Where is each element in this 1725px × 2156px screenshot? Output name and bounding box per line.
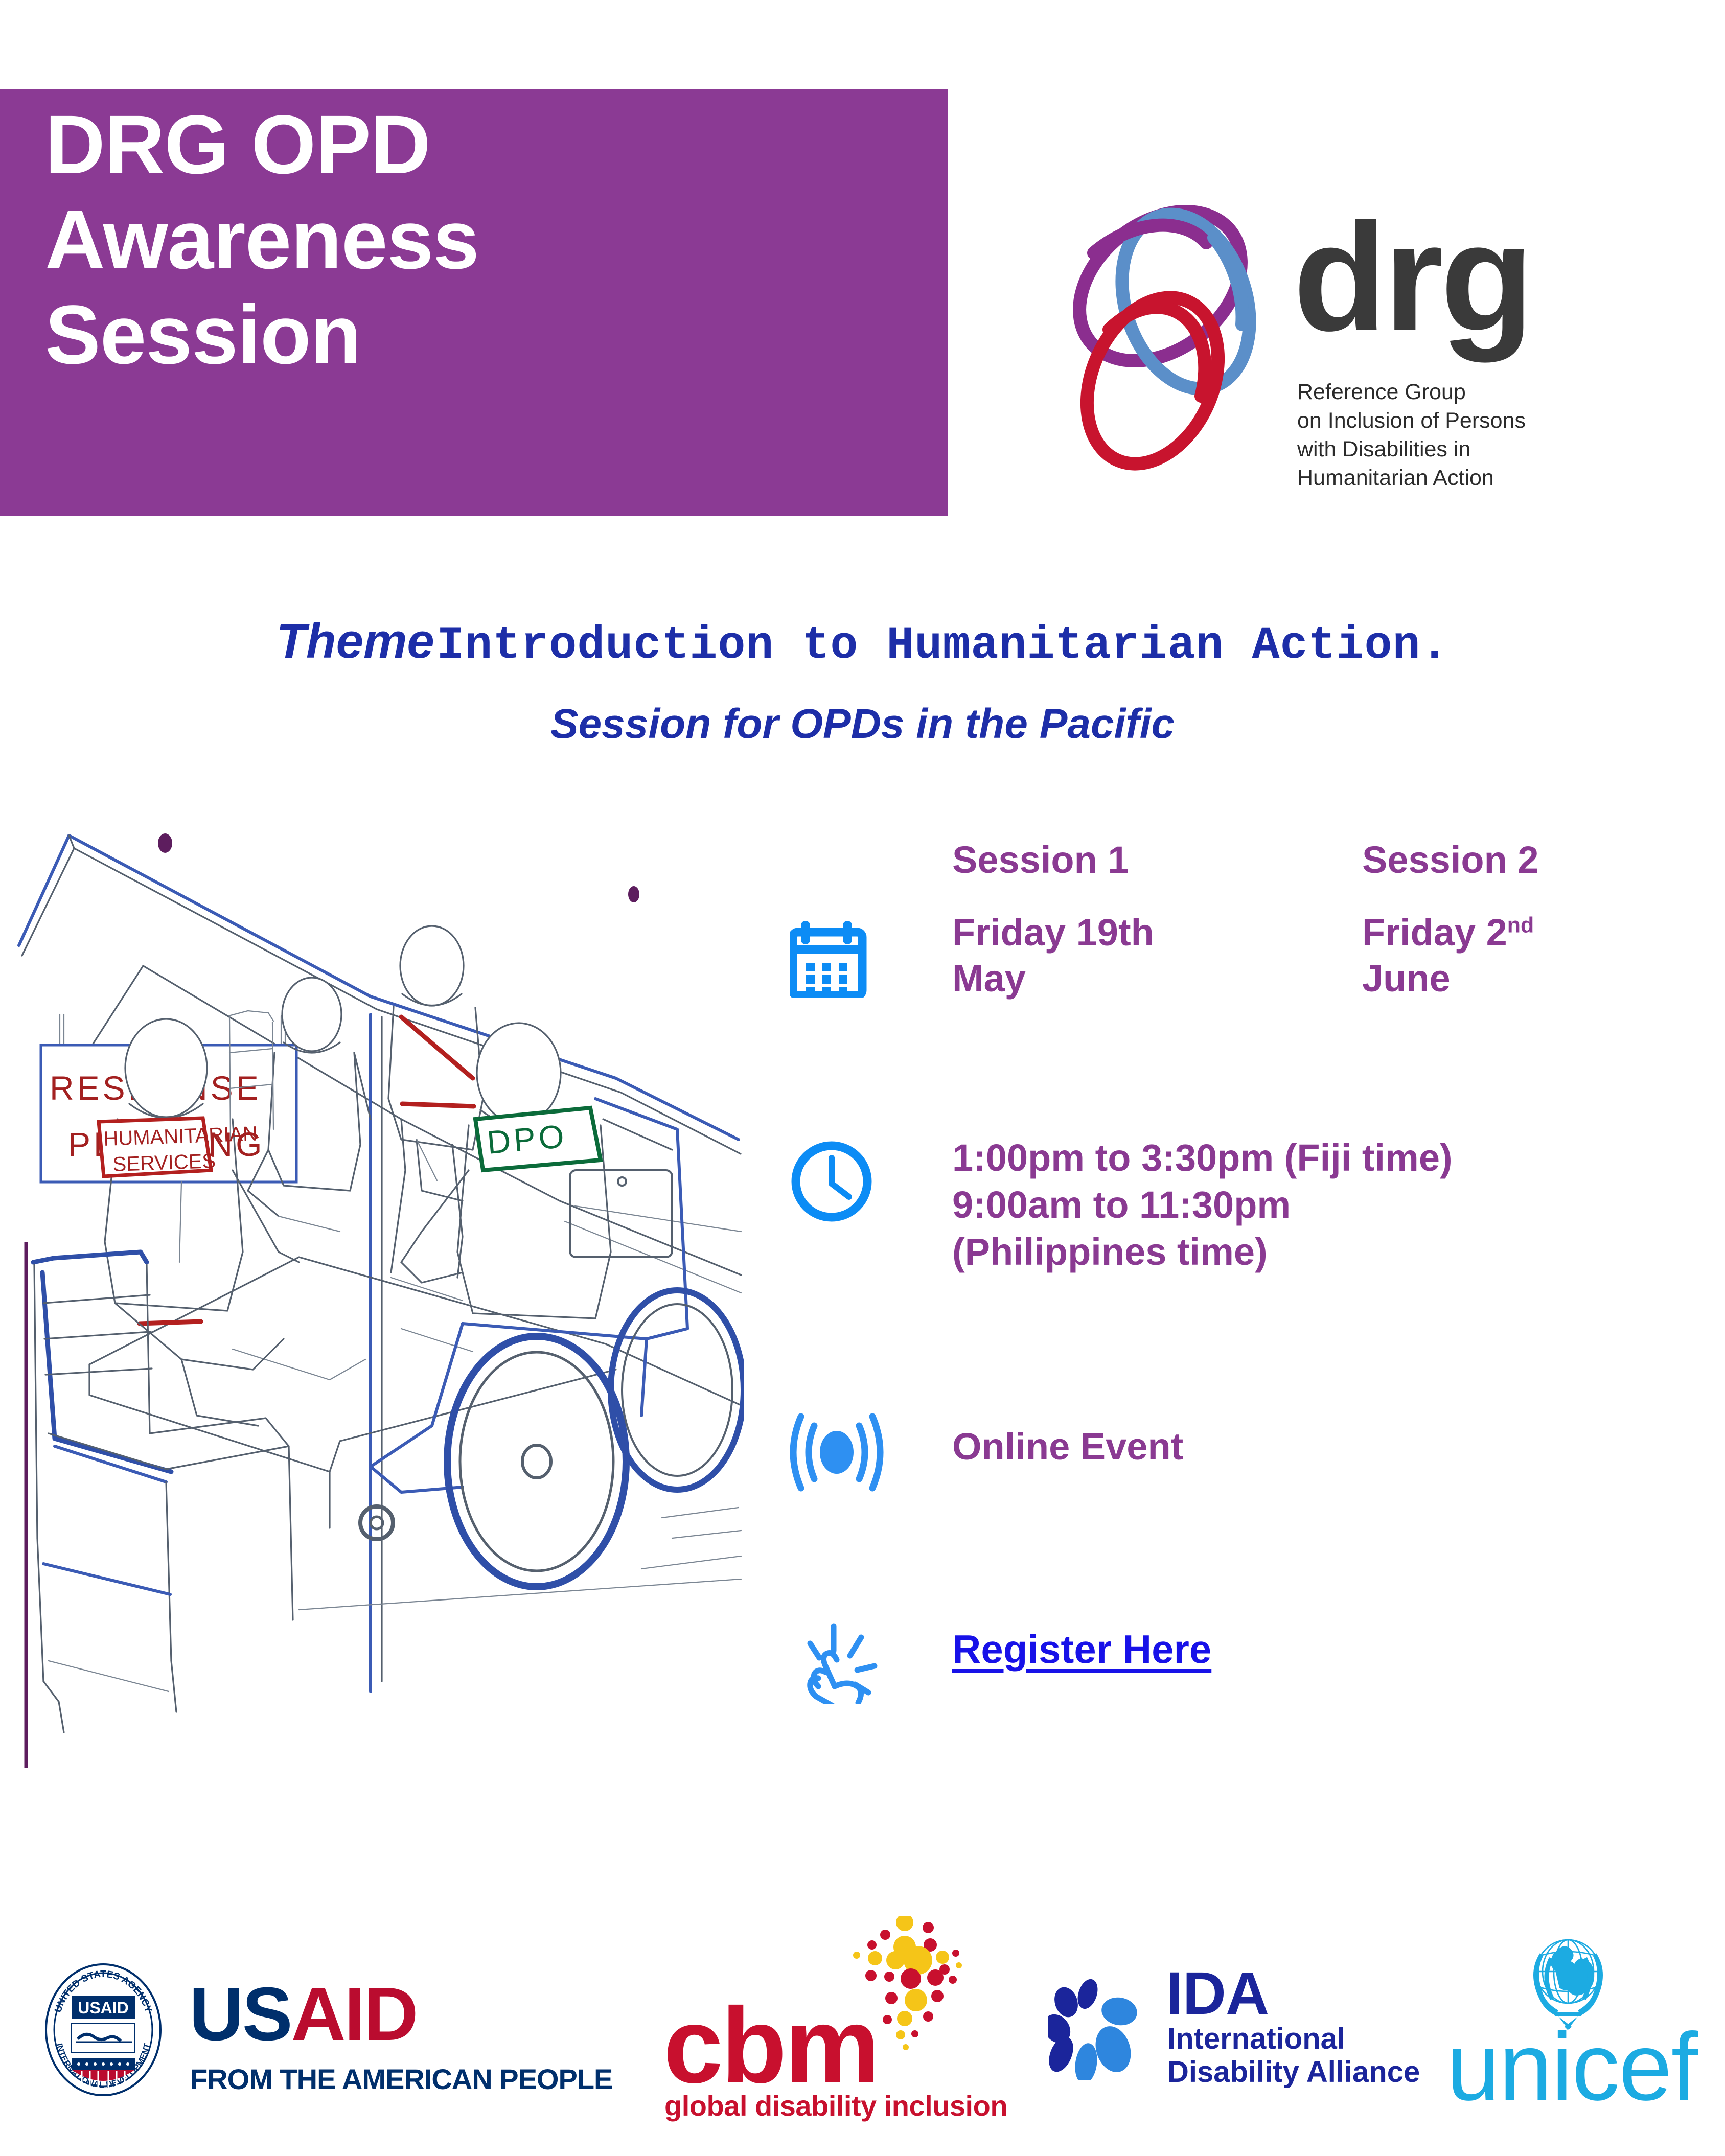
usaid-word-us: US bbox=[189, 1972, 291, 2056]
session-1-date-line-1: Friday 19th bbox=[952, 910, 1167, 956]
drg-tagline-line-1: Reference Group bbox=[1297, 378, 1624, 407]
session-1-heading: Session 1 bbox=[952, 838, 1129, 882]
broadcast-icon bbox=[790, 1410, 884, 1497]
theme-label: Theme bbox=[276, 614, 434, 668]
cbm-wordmark: cbm bbox=[663, 1992, 878, 2099]
ida-tagline-line-2: Disability Alliance bbox=[1167, 2056, 1420, 2089]
session-1-date-line-2: May bbox=[952, 956, 1167, 1002]
theme-value: Introduction to Humanitarian Action. bbox=[436, 620, 1448, 672]
theme-subtitle: Session for OPDs in the Pacific bbox=[0, 700, 1725, 748]
partner-logos-footer: UNITED STATES AGENCY INTERNATIONAL DEVEL… bbox=[0, 1901, 1725, 2156]
theme-line: Theme Introduction to Humanitarian Actio… bbox=[0, 613, 1725, 672]
drg-tagline: Reference Group on Inclusion of Persons … bbox=[1297, 378, 1624, 493]
drg-tagline-line-2: on Inclusion of Persons bbox=[1297, 407, 1624, 435]
clock-icon bbox=[790, 1140, 874, 1226]
unicef-wordmark: unicef bbox=[1444, 2019, 1699, 2115]
time-line-3: (Philippines time) bbox=[952, 1228, 1678, 1276]
time-text: 1:00pm to 3:30pm (Fiji time) 9:00am to 1… bbox=[952, 1134, 1678, 1275]
unicef-logo: unicef bbox=[1444, 1927, 1699, 2131]
time-line-2: 9:00am to 11:30pm bbox=[952, 1181, 1678, 1228]
session-2-date-ordinal: nd bbox=[1507, 913, 1534, 937]
cbm-tagline: global disability inclusion bbox=[664, 2089, 1007, 2122]
click-hand-icon bbox=[797, 1615, 886, 1707]
session-2-heading: Session 2 bbox=[1362, 838, 1539, 882]
svg-text:USAID: USAID bbox=[78, 1999, 129, 2017]
ida-wordmark: IDA bbox=[1166, 1963, 1269, 2024]
page-title: DRG OPD Awareness Session bbox=[45, 97, 914, 382]
page-title-line-3: Session bbox=[45, 287, 914, 382]
ida-logo: IDA International Disability Alliance bbox=[1048, 1967, 1406, 2100]
time-line-1: 1:00pm to 3:30pm (Fiji time) bbox=[952, 1134, 1678, 1181]
online-event-label: Online Event bbox=[952, 1425, 1183, 1468]
page-title-line-1: DRG OPD bbox=[45, 97, 914, 192]
vest-dpo-label: DPO bbox=[486, 1118, 568, 1161]
cbm-logo: cbm global disability inclusion bbox=[649, 1921, 976, 2136]
session-2-date-line-2: June bbox=[1362, 956, 1577, 1002]
usaid-wordmark: USAID bbox=[189, 1977, 417, 2052]
meeting-illustration: .ln { fill:none; stroke:#55606e; stroke-… bbox=[13, 813, 744, 1773]
usaid-tagline: FROM THE AMERICAN PEOPLE bbox=[190, 2062, 612, 2096]
drg-wordmark: drg bbox=[1293, 204, 1531, 350]
session-2-date-line-1: Friday 2nd bbox=[1362, 910, 1577, 956]
session-2-date-text: Friday 2 bbox=[1362, 911, 1507, 954]
session-1-date: Friday 19th May bbox=[952, 910, 1167, 1002]
drg-logo: drg Reference Group on Inclusion of Pers… bbox=[1032, 176, 1636, 483]
usaid-seal-icon: UNITED STATES AGENCY INTERNATIONAL DEVEL… bbox=[36, 1962, 171, 2098]
register-here-link[interactable]: Register Here bbox=[952, 1626, 1211, 1673]
drg-rings-icon bbox=[1032, 176, 1308, 483]
session-2-date: Friday 2nd June bbox=[1362, 910, 1577, 1002]
drg-tagline-line-3: with Disabilities in bbox=[1297, 435, 1624, 464]
vest-humanitarian-line-2: SERVICES bbox=[112, 1150, 216, 1176]
ida-petals-icon bbox=[1048, 1973, 1155, 2080]
ida-tagline-line-1: International bbox=[1167, 2023, 1420, 2056]
calendar-icon bbox=[790, 914, 871, 1001]
ida-tagline: International Disability Alliance bbox=[1167, 2023, 1420, 2089]
usaid-word-aid: AID bbox=[291, 1972, 417, 2056]
page-title-line-2: Awareness bbox=[45, 192, 914, 287]
drg-tagline-line-4: Humanitarian Action bbox=[1297, 464, 1624, 493]
